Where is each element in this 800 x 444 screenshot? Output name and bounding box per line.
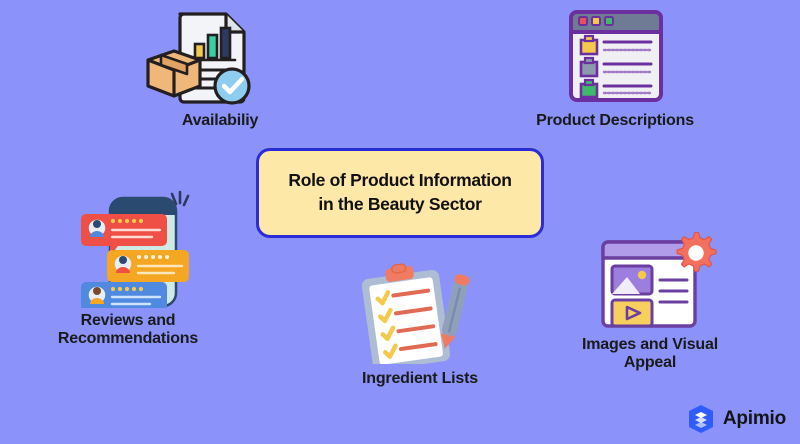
center-title-box: Role of Product Information in the Beaut… <box>256 148 544 238</box>
node-images-visual-appeal: Images and Visual Appeal <box>555 232 745 373</box>
node-reviews-label-line-1: Reviews and <box>81 312 176 329</box>
node-visual-label-line-1: Images and Visual <box>582 336 718 353</box>
node-visual-label-line-2: Appeal <box>624 354 676 371</box>
browser-window-product-list-icon <box>515 8 715 108</box>
node-availability: Availabiliy <box>140 8 300 130</box>
node-reviews-recommendations-label: Reviews and Recommendations <box>28 312 228 349</box>
node-availability-label: Availabiliy <box>140 112 300 130</box>
center-title-line-1: Role of Product Information <box>288 170 511 190</box>
node-product-descriptions: Product Descriptions <box>515 8 715 130</box>
apimio-cube-logo-icon <box>687 404 715 434</box>
phone-review-bubbles-icon <box>28 186 228 308</box>
node-reviews-recommendations: Reviews and Recommendations <box>28 186 228 349</box>
node-product-descriptions-label: Product Descriptions <box>515 112 715 130</box>
node-reviews-label-line-2: Recommendations <box>58 330 198 347</box>
apimio-logo-text: Apimio <box>723 408 786 430</box>
apimio-logo: Apimio <box>687 404 786 434</box>
center-title-line-2: in the Beauty Sector <box>318 194 481 214</box>
center-title-text: Role of Product Information in the Beaut… <box>288 169 511 216</box>
media-card-gear-icon <box>555 232 745 332</box>
clipboard-checklist-pen-icon <box>330 258 510 364</box>
node-ingredient-lists-label: Ingredient Lists <box>330 370 510 388</box>
node-images-visual-appeal-label: Images and Visual Appeal <box>555 336 745 373</box>
infographic-canvas: Role of Product Information in the Beaut… <box>0 0 800 444</box>
node-ingredient-lists: Ingredient Lists <box>330 258 510 388</box>
document-chart-box-check-icon <box>140 8 300 108</box>
